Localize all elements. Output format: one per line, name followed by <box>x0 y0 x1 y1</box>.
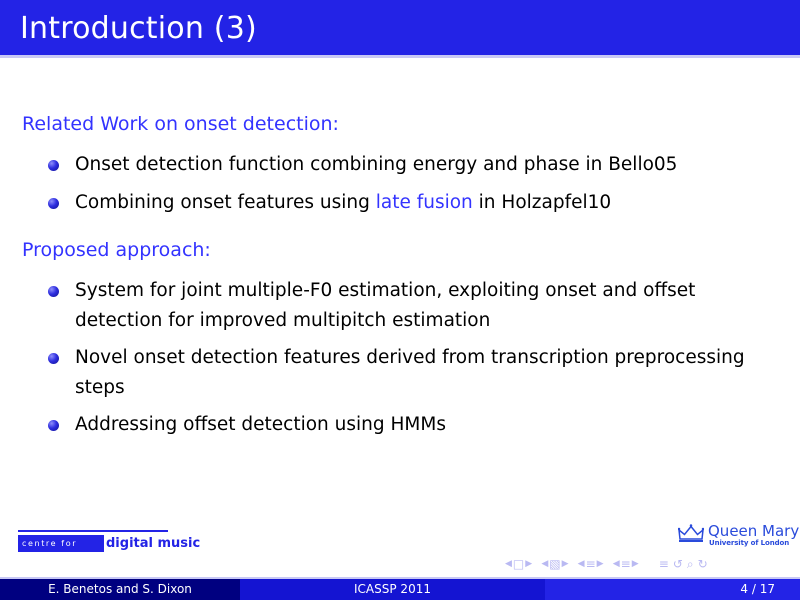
bullet-sphere-icon <box>48 286 59 297</box>
list-item: Combining onset features using late fusi… <box>0 188 780 218</box>
bullet-sphere-icon <box>48 353 59 364</box>
nav-section-group[interactable]: ◀≡▶ <box>613 554 639 575</box>
list-item-text-post: in Holzapfel10 <box>473 192 611 213</box>
bullet-sphere-icon <box>48 198 59 209</box>
crown-icon <box>678 524 704 544</box>
logo-digital-music-text: digital music <box>106 535 200 552</box>
list-item-text: System for joint multiple-F0 estimation,… <box>75 276 780 336</box>
nav-next-frame-icon[interactable]: ▶ <box>562 559 569 569</box>
nav-forward-icon[interactable]: ↻ <box>697 557 711 571</box>
list-item: System for joint multiple-F0 estimation,… <box>0 276 780 336</box>
list-item: Onset detection function combining energ… <box>0 150 780 180</box>
nav-slide-group[interactable]: ◀□▶ <box>505 554 532 575</box>
list-item-text-pre: Onset detection function combining energ… <box>75 154 677 175</box>
nav-misc-group[interactable]: ≡↺⌕↻ <box>658 554 711 575</box>
list-item-text-pre: Combining onset features using <box>75 192 376 213</box>
bullet-sphere-icon <box>48 420 59 431</box>
logo-centre-for-digital-music: centre for digital music <box>18 530 168 556</box>
nav-next-section-icon[interactable]: ▶ <box>632 559 639 569</box>
nav-subsection-group[interactable]: ◀≡▶ <box>578 554 604 575</box>
page-title: Introduction (3) <box>20 11 257 47</box>
footer-author: E. Benetos and S. Dixon <box>0 579 240 600</box>
logo-rule <box>18 530 168 532</box>
list-item-text-highlight: late fusion <box>376 192 473 213</box>
nav-slide-icon[interactable]: □ <box>512 557 525 571</box>
nav-frame-icon[interactable]: ▧ <box>548 557 561 571</box>
bullet-list-proposed-approach: System for joint multiple-F0 estimation,… <box>0 276 780 447</box>
list-item-text: Addressing offset detection using HMMs <box>75 410 780 440</box>
nav-subsection-icon[interactable]: ≡ <box>585 557 597 571</box>
logo-centre-for-text: centre for <box>22 537 100 550</box>
logo-queen-mary-name: Queen Mary <box>708 522 799 540</box>
list-item: Novel onset detection features derived f… <box>0 343 780 403</box>
nav-document-icon[interactable]: ≡ <box>658 557 672 571</box>
list-item-text: Novel onset detection features derived f… <box>75 343 780 403</box>
nav-next-subsection-icon[interactable]: ▶ <box>597 559 604 569</box>
slide-content: Related Work on onset detection: Onset d… <box>0 58 800 513</box>
nav-prev-subsection-icon[interactable]: ◀ <box>578 559 585 569</box>
footer-page-number: 4 / 17 <box>545 579 800 600</box>
bullet-list-related-work: Onset detection function combining energ… <box>0 150 780 226</box>
nav-prev-section-icon[interactable]: ◀ <box>613 559 620 569</box>
nav-prev-slide-icon[interactable]: ◀ <box>505 559 512 569</box>
nav-next-slide-icon[interactable]: ▶ <box>525 559 532 569</box>
logo-queen-mary: Queen Mary University of London <box>678 522 790 552</box>
section-heading-proposed-approach: Proposed approach: <box>22 238 211 262</box>
logo-queen-mary-subtitle: University of London <box>709 539 789 548</box>
bullet-sphere-icon <box>48 160 59 171</box>
nav-search-icon[interactable]: ⌕ <box>686 557 697 571</box>
footer-conference: ICASSP 2011 <box>240 579 545 600</box>
beamer-navigation-symbols[interactable]: ◀□▶ ◀▧▶ ◀≡▶ ◀≡▶ ≡↺⌕↻ <box>505 554 790 574</box>
list-item: Addressing offset detection using HMMs <box>0 410 780 440</box>
nav-back-icon[interactable]: ↺ <box>672 557 686 571</box>
list-item-text: Combining onset features using late fusi… <box>75 188 780 218</box>
section-heading-related-work: Related Work on onset detection: <box>22 112 339 136</box>
slide-footer: E. Benetos and S. Dixon ICASSP 2011 4 / … <box>0 577 800 600</box>
footer-page-number-text: 4 / 17 <box>740 579 775 600</box>
nav-section-icon[interactable]: ≡ <box>620 557 632 571</box>
nav-frame-group[interactable]: ◀▧▶ <box>541 554 568 575</box>
list-item-text: Onset detection function combining energ… <box>75 150 780 180</box>
